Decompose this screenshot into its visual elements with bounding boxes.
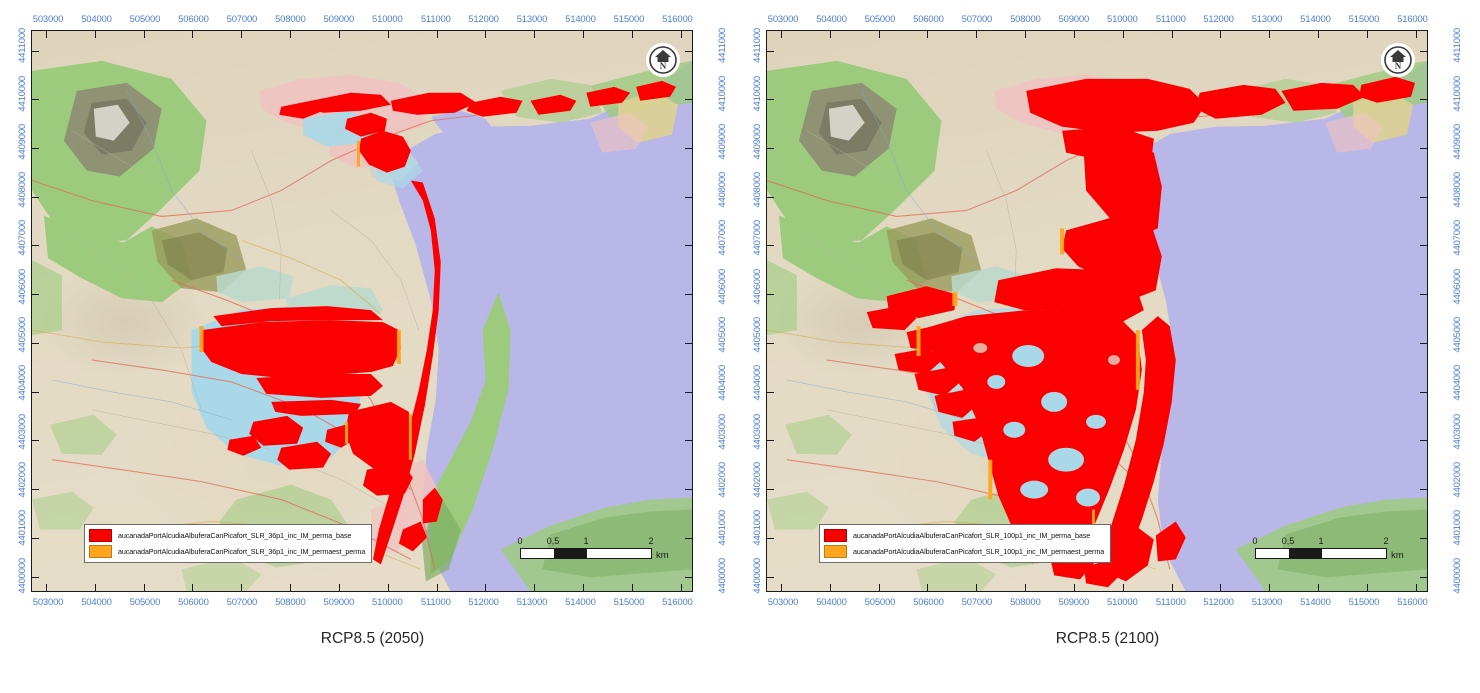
- legend-label-permaest: aucanadaPortAlcudiaAlbuferaCanPicafort_S…: [118, 547, 365, 556]
- legend-swatch-permaest: [89, 545, 112, 558]
- x-tick-label: 515000: [614, 597, 645, 610]
- legend-swatch-perma-base: [89, 529, 112, 542]
- legend-label-perma-base: aucanadaPortAlcudiaAlbuferaCanPicafort_S…: [118, 531, 351, 540]
- x-tick-label: 506000: [178, 14, 209, 27]
- x-tick-label: 512000: [468, 597, 499, 610]
- x-tick-label: 513000: [517, 14, 548, 27]
- x-axis-labels-top: 503000 504000 505000 506000 507000 50800…: [48, 14, 708, 27]
- y-tick-label: 4402000: [752, 462, 763, 498]
- scale-label: 2: [1383, 536, 1388, 546]
- y-tick-label: 4411000: [17, 28, 28, 63]
- x-tick-label: 505000: [865, 597, 896, 610]
- x-tick-label: 503000: [768, 14, 799, 27]
- scale-label: 0,5: [547, 536, 560, 546]
- x-tick-label: 504000: [81, 14, 112, 27]
- x-tick-label: 509000: [1059, 14, 1090, 27]
- scale-unit-label: km: [1391, 550, 1404, 561]
- y-tick-label: 4410000: [717, 76, 728, 112]
- y-axis-labels-right: 4411000 4410000 4409000 4408000 4407000 …: [716, 28, 729, 594]
- x-tick-label: 503000: [33, 14, 64, 27]
- map-panel-2100: 503000 504000 505000 506000 507000 50800…: [751, 14, 1464, 610]
- y-tick-label: 4400000: [1452, 558, 1463, 594]
- y-tick-label: 4406000: [17, 269, 28, 305]
- x-tick-label: 506000: [913, 597, 944, 610]
- figure-root: 503000 504000 505000 506000 507000 50800…: [0, 0, 1480, 693]
- y-axis-labels-right: 4411000 4410000 4409000 4408000 4407000 …: [1451, 28, 1464, 594]
- y-tick-label: 4404000: [752, 365, 763, 401]
- x-tick-label: 509000: [1059, 597, 1090, 610]
- x-tick-label: 515000: [1349, 597, 1380, 610]
- y-tick-label: 4402000: [17, 462, 28, 498]
- x-tick-label: 513000: [1252, 597, 1283, 610]
- scale-bar-2100: 0 0,5 1 2 km: [1255, 536, 1405, 559]
- y-tick-label: 4411000: [752, 28, 763, 63]
- x-tick-label: 516000: [1397, 14, 1428, 27]
- y-tick-label: 4407000: [752, 220, 763, 256]
- x-tick-label: 508000: [1010, 14, 1041, 27]
- y-tick-label: 4401000: [717, 510, 728, 546]
- map-legend-2100[interactable]: aucanadaPortAlcudiaAlbuferaCanPicafort_S…: [819, 524, 1111, 563]
- y-tick-label: 4410000: [17, 76, 28, 112]
- y-tick-label: 4402000: [1452, 462, 1463, 498]
- x-tick-label: 510000: [1107, 14, 1138, 27]
- map-panel-2050: 503000 504000 505000 506000 507000 50800…: [16, 14, 729, 610]
- scale-unit-label: km: [656, 550, 669, 561]
- x-tick-label: 514000: [1300, 597, 1331, 610]
- panel-caption-2100: RCP8.5 (2100): [751, 630, 1464, 648]
- flood-est-layer-2100: [767, 31, 1427, 591]
- x-tick-label: 513000: [1252, 14, 1283, 27]
- x-tick-label: 512000: [1203, 597, 1234, 610]
- x-tick-label: 516000: [1397, 597, 1428, 610]
- x-tick-label: 508000: [1010, 597, 1041, 610]
- map-canvas-2050[interactable]: N aucanadaPortAlcudiaAlbuferaCanPicafort…: [31, 30, 693, 592]
- scale-label: 0: [1252, 536, 1257, 546]
- y-tick-label: 4404000: [717, 365, 728, 401]
- x-tick-label: 503000: [33, 597, 64, 610]
- x-tick-label: 505000: [130, 14, 161, 27]
- y-tick-label: 4408000: [752, 172, 763, 208]
- y-tick-label: 4410000: [752, 76, 763, 112]
- y-tick-label: 4407000: [1452, 220, 1463, 256]
- y-tick-label: 4409000: [1452, 124, 1463, 160]
- y-tick-label: 4405000: [1452, 317, 1463, 353]
- svg-text:N: N: [660, 61, 667, 71]
- x-tick-label: 506000: [178, 597, 209, 610]
- scale-label: 0,5: [1282, 536, 1295, 546]
- y-tick-label: 4403000: [1452, 414, 1463, 450]
- x-tick-label: 511000: [1156, 14, 1186, 27]
- flood-est-layer-2050: [32, 31, 692, 591]
- x-tick-label: 513000: [517, 597, 548, 610]
- y-tick-label: 4410000: [1452, 76, 1463, 112]
- x-tick-label: 505000: [865, 14, 896, 27]
- x-tick-label: 511000: [421, 597, 451, 610]
- panel-caption-2050: RCP8.5 (2050): [16, 630, 729, 648]
- y-tick-label: 4401000: [1452, 510, 1463, 546]
- x-tick-label: 509000: [324, 597, 355, 610]
- y-tick-label: 4401000: [17, 510, 28, 546]
- y-tick-label: 4402000: [717, 462, 728, 498]
- y-tick-label: 4409000: [752, 124, 763, 160]
- y-tick-label: 4400000: [752, 558, 763, 594]
- scale-label: 2: [648, 536, 653, 546]
- legend-row: aucanadaPortAlcudiaAlbuferaCanPicafort_S…: [824, 529, 1104, 542]
- x-tick-label: 507000: [227, 14, 258, 27]
- x-tick-label: 507000: [962, 14, 993, 27]
- y-tick-label: 4407000: [17, 220, 28, 256]
- scale-bar-segments: [520, 548, 652, 559]
- scale-bar-2050: 0 0,5 1 2 km: [520, 536, 670, 559]
- x-tick-label: 516000: [662, 14, 693, 27]
- x-tick-label: 514000: [565, 14, 596, 27]
- y-tick-label: 4406000: [1452, 269, 1463, 305]
- x-tick-label: 504000: [816, 597, 847, 610]
- scale-bar-labels: 0 0,5 1 2: [1255, 536, 1405, 548]
- x-tick-label: 512000: [1203, 14, 1234, 27]
- y-tick-label: 4411000: [1452, 28, 1463, 63]
- y-tick-label: 4404000: [17, 365, 28, 401]
- y-tick-label: 4407000: [717, 220, 728, 256]
- x-tick-label: 515000: [614, 14, 645, 27]
- scale-bar-segments: [1255, 548, 1387, 559]
- legend-label-perma-base: aucanadaPortAlcudiaAlbuferaCanPicafort_S…: [853, 531, 1090, 540]
- x-tick-label: 515000: [1349, 14, 1380, 27]
- x-tick-label: 504000: [81, 597, 112, 610]
- x-tick-label: 507000: [962, 597, 993, 610]
- x-tick-label: 507000: [227, 597, 258, 610]
- x-tick-label: 510000: [1107, 597, 1138, 610]
- y-tick-label: 4408000: [1452, 172, 1463, 208]
- y-tick-label: 4405000: [752, 317, 763, 353]
- x-axis-labels-bottom: 503000 504000 505000 506000 507000 50800…: [783, 597, 1443, 610]
- y-tick-label: 4409000: [17, 124, 28, 160]
- legend-swatch-permaest: [824, 545, 847, 558]
- x-tick-label: 508000: [275, 597, 306, 610]
- scale-label: 1: [583, 536, 588, 546]
- y-tick-label: 4405000: [17, 317, 28, 353]
- x-tick-label: 508000: [275, 14, 306, 27]
- y-tick-label: 4408000: [717, 172, 728, 208]
- y-tick-label: 4411000: [717, 28, 728, 63]
- y-tick-label: 4406000: [752, 269, 763, 305]
- x-tick-label: 514000: [565, 597, 596, 610]
- y-tick-label: 4403000: [752, 414, 763, 450]
- y-tick-label: 4404000: [1452, 365, 1463, 401]
- x-tick-label: 510000: [372, 597, 403, 610]
- map-legend-2050[interactable]: aucanadaPortAlcudiaAlbuferaCanPicafort_S…: [84, 524, 372, 563]
- legend-row: aucanadaPortAlcudiaAlbuferaCanPicafort_S…: [89, 529, 365, 542]
- scale-label: 0: [517, 536, 522, 546]
- y-tick-label: 4408000: [17, 172, 28, 208]
- x-tick-label: 506000: [913, 14, 944, 27]
- x-tick-label: 504000: [816, 14, 847, 27]
- x-axis-labels-top: 503000 504000 505000 506000 507000 50800…: [783, 14, 1443, 27]
- x-tick-label: 514000: [1300, 14, 1331, 27]
- scale-label: 1: [1318, 536, 1323, 546]
- x-tick-label: 510000: [372, 14, 403, 27]
- map-canvas-2100[interactable]: N aucanadaPortAlcudiaAlbuferaCanPicafort…: [766, 30, 1428, 592]
- y-tick-label: 4405000: [717, 317, 728, 353]
- x-tick-label: 511000: [1156, 597, 1186, 610]
- y-axis-labels-left: 4411000 4410000 4409000 4408000 4407000 …: [751, 28, 764, 594]
- y-tick-label: 4406000: [717, 269, 728, 305]
- legend-label-permaest: aucanadaPortAlcudiaAlbuferaCanPicafort_S…: [853, 547, 1104, 556]
- legend-swatch-perma-base: [824, 529, 847, 542]
- y-axis-labels-left: 4411000 4410000 4409000 4408000 4407000 …: [16, 28, 29, 594]
- scale-bar-labels: 0 0,5 1 2: [520, 536, 670, 548]
- x-tick-label: 516000: [662, 597, 693, 610]
- legend-row: aucanadaPortAlcudiaAlbuferaCanPicafort_S…: [89, 545, 365, 558]
- y-tick-label: 4400000: [17, 558, 28, 594]
- x-tick-label: 509000: [324, 14, 355, 27]
- y-tick-label: 4400000: [717, 558, 728, 594]
- x-tick-label: 505000: [130, 597, 161, 610]
- x-tick-label: 512000: [468, 14, 499, 27]
- svg-text:N: N: [1395, 61, 1402, 71]
- x-tick-label: 511000: [421, 14, 451, 27]
- x-tick-label: 503000: [768, 597, 799, 610]
- x-axis-labels-bottom: 503000 504000 505000 506000 507000 50800…: [48, 597, 708, 610]
- y-tick-label: 4401000: [752, 510, 763, 546]
- y-tick-label: 4403000: [717, 414, 728, 450]
- y-tick-label: 4403000: [17, 414, 28, 450]
- north-arrow-icon: N: [646, 43, 680, 77]
- north-arrow-icon: N: [1381, 43, 1415, 77]
- y-tick-label: 4409000: [717, 124, 728, 160]
- legend-row: aucanadaPortAlcudiaAlbuferaCanPicafort_S…: [824, 545, 1104, 558]
